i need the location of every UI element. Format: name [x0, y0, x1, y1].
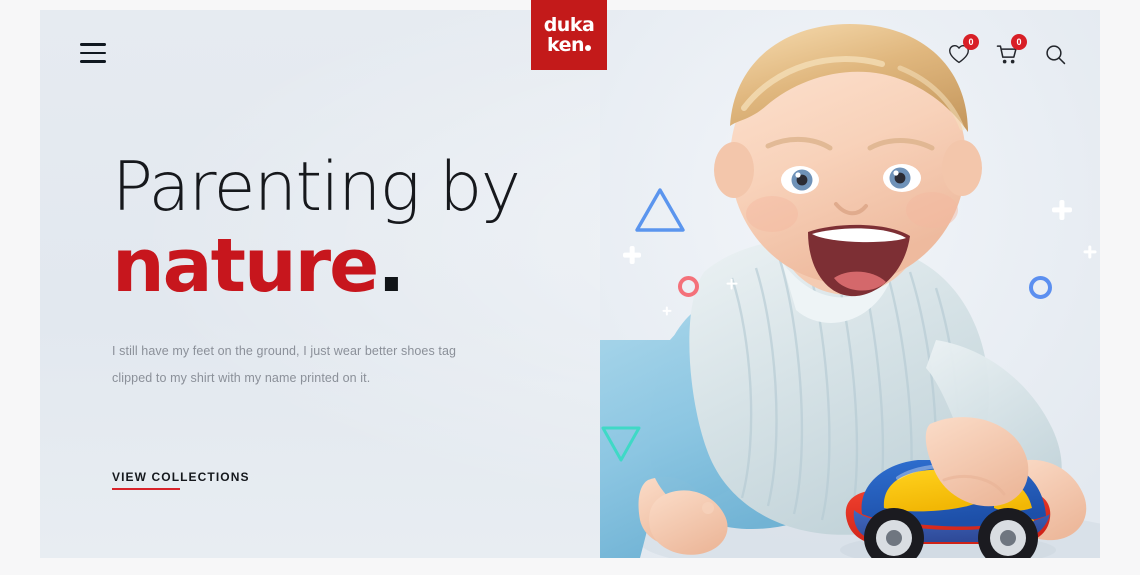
ring-coral-icon — [678, 276, 699, 297]
hamburger-menu-button[interactable] — [80, 43, 106, 63]
hero-headline-word: nature — [112, 223, 377, 309]
cart-button[interactable]: 0 — [994, 40, 1020, 68]
hero-headline-line-2: nature. — [112, 226, 582, 306]
brand-logo-dot — [585, 45, 591, 51]
brand-logo[interactable]: duka ken — [531, 0, 607, 70]
ring-blue-icon — [1029, 276, 1052, 299]
sparkle-icon — [662, 306, 671, 315]
search-icon — [1045, 44, 1066, 65]
wishlist-button[interactable]: 0 — [946, 40, 972, 68]
view-collections-button[interactable]: VIEW COLLECTIONS — [112, 470, 250, 490]
sparkle-icon — [726, 278, 737, 289]
triangle-down-icon — [600, 424, 642, 464]
site-header: duka ken 0 0 — [0, 0, 1140, 80]
search-button[interactable] — [1042, 40, 1068, 68]
hamburger-bar — [80, 43, 106, 45]
sparkle-icon — [1052, 200, 1072, 220]
brand-logo-text: ken — [547, 34, 584, 56]
sparkle-icon — [1083, 245, 1096, 258]
hero-copy: Parenting by nature. I still have my fee… — [112, 150, 582, 490]
hero-headline-period: . — [377, 223, 403, 309]
header-actions: 0 0 — [946, 40, 1068, 68]
hero-subcopy: I still have my feet on the ground, I ju… — [112, 338, 464, 392]
hero-headline-line-1: Parenting by — [112, 150, 582, 226]
wishlist-count-badge: 0 — [963, 34, 979, 50]
sparkle-icon — [623, 246, 641, 264]
hero-image: Smiling baby crawling toward a colorful … — [600, 10, 1100, 558]
hamburger-bar — [80, 60, 106, 62]
cart-count-badge: 0 — [1011, 34, 1027, 50]
brand-logo-line-2: ken — [547, 36, 591, 55]
hero-banner: Smiling baby crawling toward a colorful … — [40, 10, 1100, 558]
brand-logo-line-1: duka — [544, 16, 595, 35]
hamburger-bar — [80, 52, 106, 54]
